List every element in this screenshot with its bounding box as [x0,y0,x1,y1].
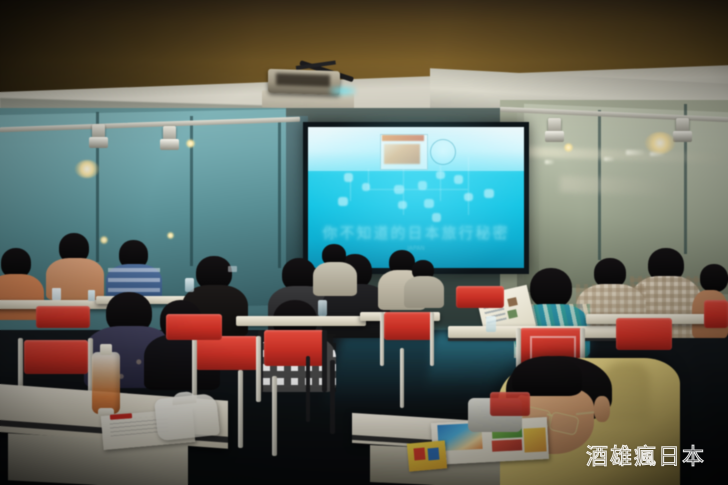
stripe-1 [108,268,160,272]
projector-lens-glow [330,86,356,96]
slide-node-6 [418,181,427,190]
slide-node-5 [398,201,407,209]
person-body-front-3 [404,276,444,308]
slide-node-9 [454,175,463,184]
glass-reflection-1 [626,150,644,155]
chair-right-4 [704,300,728,328]
chair-leg-extra-1 [238,370,243,448]
water-bottle-3 [185,278,194,292]
chair-mid-2-leg-l [380,312,384,366]
chair-leg-extra-5 [400,348,404,408]
slide-connector-5 [468,157,469,215]
slide-node-7 [424,199,434,208]
water-bottle-1 [486,316,496,332]
chair-mid-3-leg-r [256,336,261,402]
track-spotlight-2-head [160,139,179,150]
slide-node-12 [432,213,441,222]
chair-mid-3 [196,336,258,370]
recessed-downlight-2 [100,236,108,244]
chair-leg-extra-3 [330,360,335,434]
downlight-glow-right-1 [645,132,675,154]
stripe-2 [108,278,160,282]
slide-node-11 [484,189,494,198]
chair-right-2 [616,318,672,350]
foreground-man-hair-front [512,356,582,396]
chair-mid-1-leg-r [322,330,327,392]
slide-node-3 [362,183,370,191]
person-head-striped [530,268,572,308]
photo-seminar-room: 你不知道的日本旅行秘密 JAPAN [0,0,728,485]
recessed-downlight-1 [186,139,195,148]
brochure-photo-yellow [523,427,546,452]
chair-left-1 [24,340,88,374]
slide-node-1 [344,173,353,182]
recessed-downlight-3 [167,232,174,239]
glass-mullion-3 [278,118,281,268]
chair-mid-1 [264,330,324,366]
slide-node-8 [436,171,445,179]
glass-reflection-4 [545,160,554,164]
track-spotlight-3-head [545,131,564,142]
chair-left-2 [166,314,222,340]
slide-title: 你不知道的日本旅行秘密 [316,223,516,243]
person-head-right-2 [700,264,728,292]
slide-node-4 [394,185,404,194]
drink-bottle [92,352,120,414]
watermark: 酒雄瘋日本 [586,439,706,471]
slide-card-heading [382,135,424,141]
chair-left-3 [36,306,90,328]
downlight-glow-left-1 [75,160,99,178]
brochure-photo-red [492,439,523,452]
projector-shadow [276,73,330,87]
slide-circle-node [430,139,456,165]
brochure-small-yellow [407,440,447,471]
slide-subtitle: JAPAN [316,245,516,255]
slide-node-2 [338,197,348,206]
slide-node-10 [464,193,473,201]
cup-back-1 [52,288,61,300]
brochure-icon-1 [413,448,425,461]
glass-reflection-3 [604,157,614,161]
eyeglasses-mid-1 [228,266,237,272]
cup-back-2 [88,290,95,301]
chair-mid-2-leg-r [430,312,434,366]
chair-leg-extra-2 [272,376,277,456]
slide-connector-6 [350,179,351,201]
track-spotlight-1-head [89,137,108,148]
track-spotlight-4-head [673,131,692,142]
brochure-icon-2 [427,448,439,461]
chair-right-3 [456,286,504,308]
water-bottle-2 [318,300,327,316]
drink-bottle-cap [100,344,112,355]
recessed-downlight-4 [564,143,573,152]
person-body-front-1 [313,262,357,296]
foreground-man-ear [594,396,610,422]
glass-reflection-2 [650,152,664,156]
chair-mid-2 [384,312,432,340]
chair-mid-3-leg-l [192,336,197,402]
chair-leg-extra-4 [306,356,310,422]
desk-mid-1 [236,316,366,326]
chair-foreground-red [490,392,530,416]
slide-card-image [384,144,420,164]
